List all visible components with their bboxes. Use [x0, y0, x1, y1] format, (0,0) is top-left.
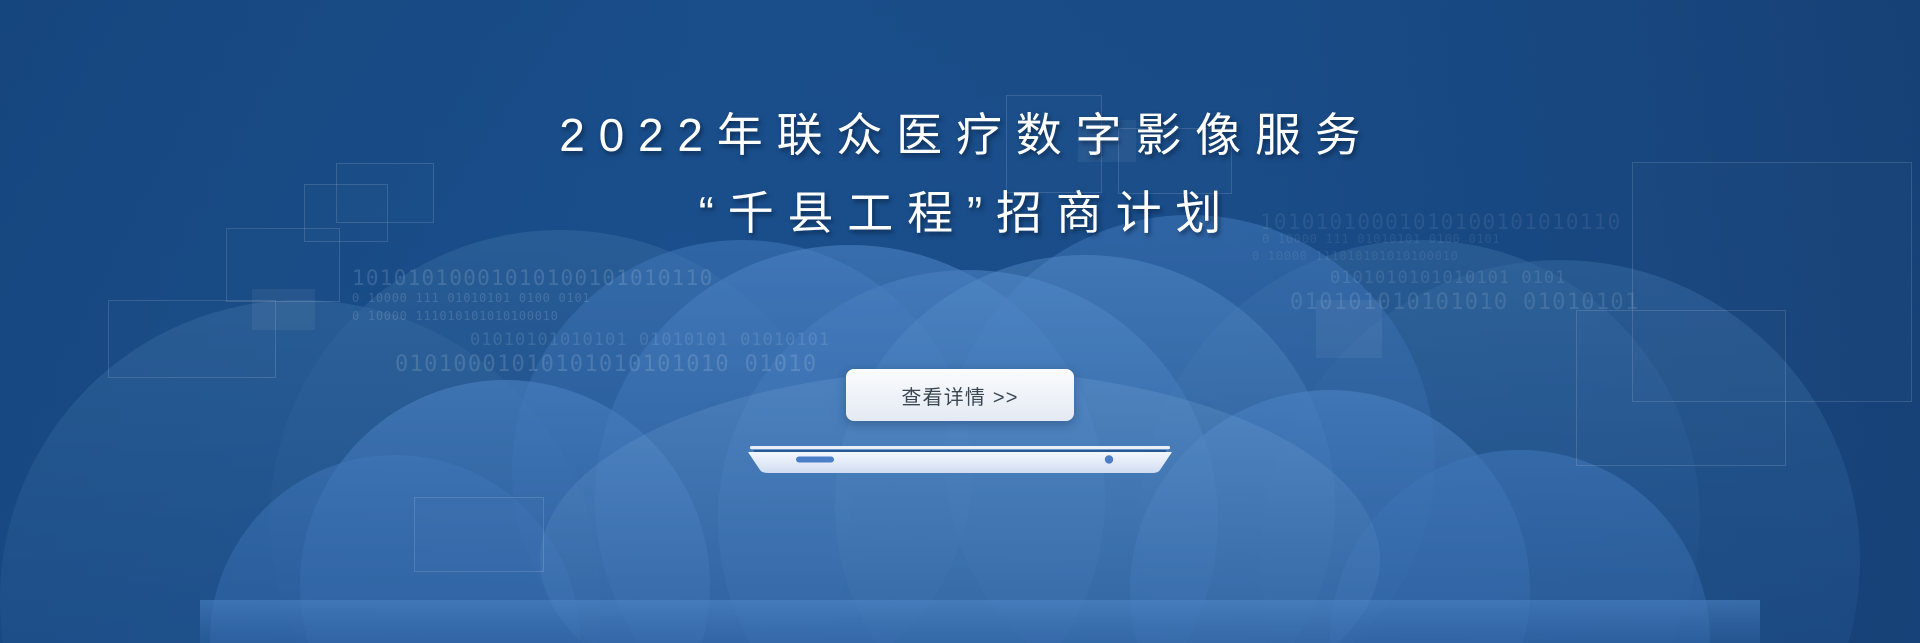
square-left-fill: [252, 289, 315, 330]
view-details-button[interactable]: 查看详情 >>: [846, 369, 1074, 421]
square-bottom-left: [414, 497, 544, 572]
square-right-outline-b: [1576, 310, 1786, 466]
laptop-base-illustration: [748, 446, 1172, 476]
promo-banner: 10101010001010100101010110 0 10000 111 0…: [0, 0, 1920, 643]
headline-line-1: 2022年联众医疗数字影像服务: [0, 96, 1920, 174]
headline-line-2: “千县工程”招商计划: [0, 174, 1920, 252]
view-details-label: 查看详情 >>: [901, 381, 1018, 410]
square-right-fill: [1316, 300, 1382, 358]
square-left-outline-a: [108, 300, 276, 378]
headline-block: 2022年联众医疗数字影像服务 “千县工程”招商计划: [0, 96, 1920, 252]
